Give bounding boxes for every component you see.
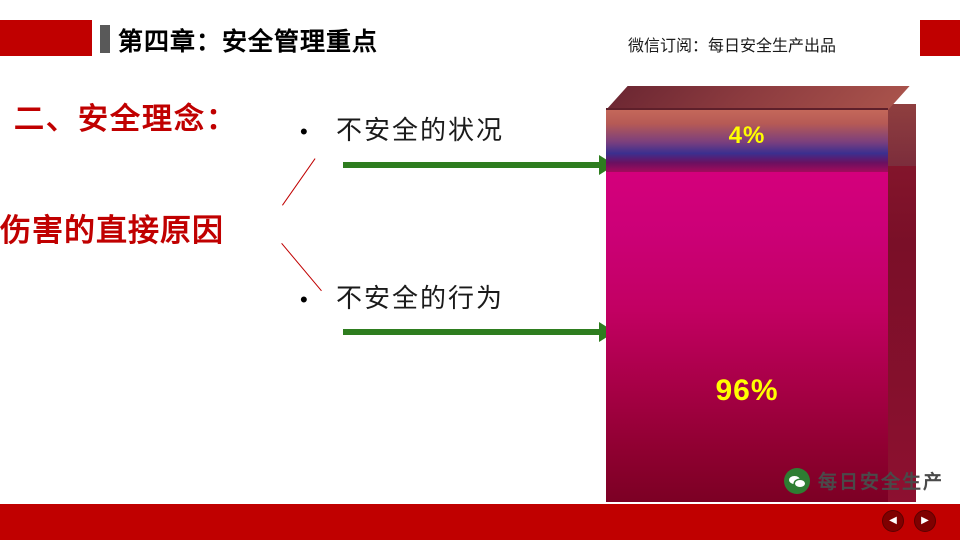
bar-label-unsafe-behavior: 96%	[606, 374, 888, 408]
watermark-label: 每日安全生产	[818, 467, 944, 494]
prev-slide-button[interactable]: ◀	[882, 510, 904, 532]
connector-line-upper	[282, 158, 316, 205]
bar-segment-unsafe-behavior	[606, 172, 888, 502]
header-marker	[100, 25, 110, 53]
list-item: •不安全的行为	[300, 278, 504, 315]
bar-top-face	[606, 86, 910, 110]
watermark: 每日安全生产	[784, 467, 944, 494]
subscription-note: 微信订阅：每日安全生产出品	[628, 32, 836, 56]
list-item-label: 不安全的行为	[336, 283, 504, 313]
list-item: •不安全的状况	[300, 110, 504, 147]
bar-side-face-top-segment	[888, 104, 916, 166]
arrow-right-icon-lower	[343, 329, 601, 335]
footer-bar	[0, 504, 960, 540]
wechat-logo-icon	[784, 468, 810, 494]
bar-label-unsafe-condition: 4%	[606, 122, 888, 150]
bullet-dot-icon: •	[300, 287, 336, 313]
cause-label: 伤害的直接原因	[0, 205, 224, 250]
header-accent-bar-right	[920, 20, 960, 56]
section-title: 二、安全理念：	[14, 94, 238, 138]
page-title: 第四章：安全管理重点	[118, 22, 378, 58]
header-accent-bar-left	[0, 20, 92, 56]
slide-canvas: 第四章：安全管理重点 微信订阅：每日安全生产出品 二、安全理念： 伤害的直接原因…	[0, 0, 960, 540]
bullet-dot-icon: •	[300, 119, 336, 145]
next-slide-button[interactable]: ▶	[914, 510, 936, 532]
stacked-bar-chart: 4% 96%	[606, 86, 916, 502]
list-item-label: 不安全的状况	[336, 115, 504, 145]
arrow-right-icon-upper	[343, 162, 601, 168]
